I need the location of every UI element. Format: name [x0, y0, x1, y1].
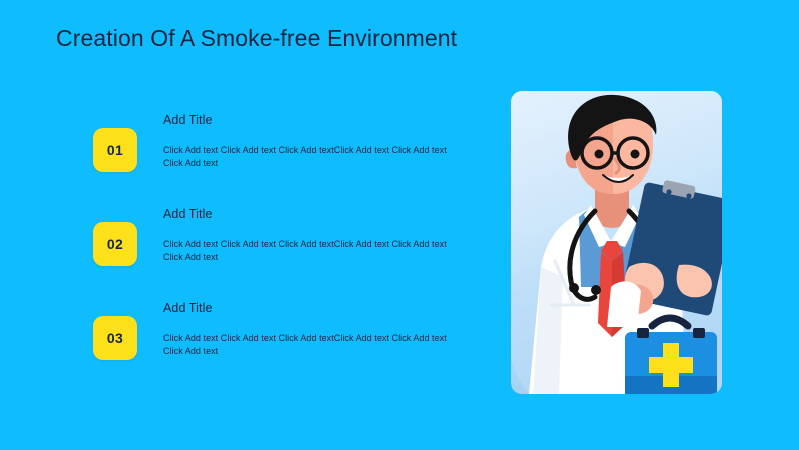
item-number-label: 02 [107, 236, 123, 252]
item-number-badge[interactable]: 01 [93, 128, 137, 172]
item-title[interactable]: Add Title [163, 301, 455, 315]
item-number-label: 01 [107, 142, 123, 158]
item-title[interactable]: Add Title [163, 207, 455, 221]
item-number-label: 03 [107, 330, 123, 346]
item-body-text[interactable]: Click Add text Click Add text Click Add … [163, 332, 449, 358]
doctor-with-clipboard-icon [511, 91, 722, 394]
item-text-block: Add Title Click Add text Click Add text … [163, 207, 455, 264]
list-item[interactable]: 03 Add Title Click Add text Click Add te… [93, 301, 463, 395]
item-text-block: Add Title Click Add text Click Add text … [163, 113, 455, 170]
item-body-text[interactable]: Click Add text Click Add text Click Add … [163, 144, 449, 170]
numbered-item-list: 01 Add Title Click Add text Click Add te… [93, 113, 463, 395]
item-text-block: Add Title Click Add text Click Add text … [163, 301, 455, 358]
page-title: Creation Of A Smoke-free Environment [56, 25, 457, 52]
doctor-illustration-card [511, 91, 722, 394]
item-number-badge[interactable]: 03 [93, 316, 137, 360]
item-number-badge[interactable]: 02 [93, 222, 137, 266]
item-title[interactable]: Add Title [163, 113, 455, 127]
list-item[interactable]: 01 Add Title Click Add text Click Add te… [93, 113, 463, 207]
slide-canvas: Creation Of A Smoke-free Environment 01 … [0, 0, 799, 450]
list-item[interactable]: 02 Add Title Click Add text Click Add te… [93, 207, 463, 301]
item-body-text[interactable]: Click Add text Click Add text Click Add … [163, 238, 449, 264]
